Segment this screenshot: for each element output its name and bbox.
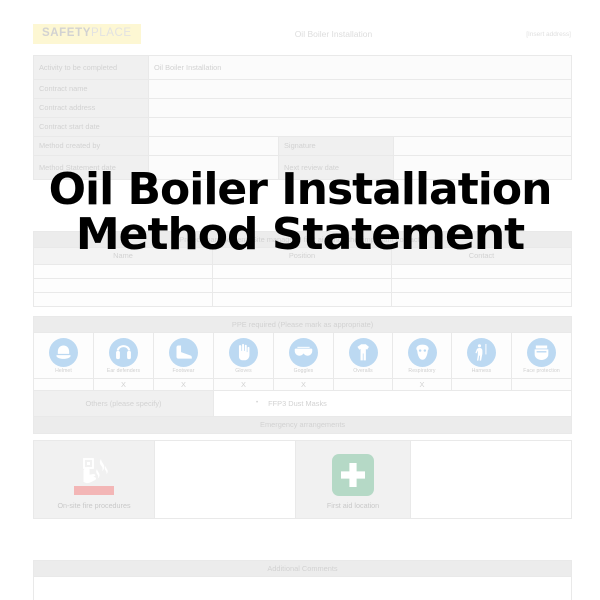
ppe-cell-harness[interactable]: Harness — [452, 333, 512, 379]
column-header-contact: Contact — [392, 248, 572, 264]
cell-name[interactable] — [34, 278, 213, 292]
fire-procedures-value[interactable] — [155, 441, 296, 519]
row-value-activity[interactable]: Oil Boiler Installation — [149, 56, 572, 80]
column-header-name: Name — [34, 248, 213, 264]
others-label: Others (please specify) — [34, 391, 214, 417]
ppe-label-gloves: Gloves — [214, 368, 273, 374]
first-aid-label: First aid location — [296, 501, 410, 510]
ear-defenders-icon — [109, 338, 138, 367]
fire-alarm-icon — [74, 486, 114, 495]
cell-contact[interactable] — [392, 292, 572, 306]
section-header-row: Project management (Site managers, first… — [34, 232, 572, 248]
fire-procedures-cell: On-site fire procedures — [34, 441, 155, 519]
document-page: SAFETYPLACE Oil Boiler Installation [Ins… — [0, 0, 600, 600]
others-value: FFP3 Dust Masks — [268, 399, 327, 408]
others-row: Others (please specify) •FFP3 Dust Masks — [34, 391, 572, 417]
document-header: SAFETYPLACE Oil Boiler Installation [Ins… — [33, 21, 571, 47]
header-address: [Insert address] — [526, 31, 571, 38]
ppe-cell-ear-defenders[interactable]: Ear defenders — [94, 333, 154, 379]
ppe-label-overalls: Overalls — [334, 368, 392, 374]
logo-text-bold: SAFETY — [42, 27, 91, 39]
goggles-icon — [289, 338, 318, 367]
table-row — [34, 278, 572, 292]
ppe-table: PPE required (Please mark as appropriate… — [33, 316, 572, 434]
table-row: Activity to be completed Oil Boiler Inst… — [34, 56, 572, 80]
ppe-label-face-protection: Face protection — [512, 368, 571, 374]
row-value-signature[interactable] — [394, 137, 572, 156]
first-aid-value[interactable] — [411, 441, 572, 519]
table-row — [34, 264, 572, 278]
row-value-contract-start-date[interactable] — [149, 118, 572, 137]
table-row: Contract address — [34, 99, 572, 118]
additional-comments-value[interactable] — [34, 577, 572, 600]
section-header-row: Emergency arrangements — [34, 417, 572, 433]
table-row — [34, 292, 572, 306]
ppe-cell-respiratory[interactable]: Respiratory — [393, 333, 452, 379]
table-row: Method Statement date Next review date — [34, 156, 572, 180]
activity-info-table: Activity to be completed Oil Boiler Inst… — [33, 55, 572, 180]
additional-comments-title: Additional Comments — [34, 561, 572, 577]
cell-position[interactable] — [213, 264, 392, 278]
row-label-signature: Signature — [279, 137, 394, 156]
ppe-cell-face-protection[interactable]: Face protection — [512, 333, 572, 379]
respiratory-icon — [408, 338, 437, 367]
footwear-icon — [169, 338, 198, 367]
ppe-mark-goggles[interactable]: X — [274, 379, 334, 391]
ppe-section-title: PPE required (Please mark as appropriate… — [34, 317, 572, 333]
harness-icon — [467, 338, 496, 367]
row-value-contract-name[interactable] — [149, 80, 572, 99]
ppe-mark-footwear[interactable]: X — [154, 379, 214, 391]
table-row: Contract start date — [34, 118, 572, 137]
ppe-label-respiratory: Respiratory — [393, 368, 451, 374]
table-row: Contract name — [34, 80, 572, 99]
cell-contact[interactable] — [392, 264, 572, 278]
table-row — [34, 577, 572, 600]
cell-contact[interactable] — [392, 278, 572, 292]
project-management-section-title: Project management (Site managers, first… — [34, 232, 572, 248]
ppe-label-harness: Harness — [452, 368, 511, 374]
ppe-cell-footwear[interactable]: Footwear — [154, 333, 214, 379]
gloves-icon — [229, 338, 258, 367]
row-label-contract-name: Contract name — [34, 80, 149, 99]
row-label-activity: Activity to be completed — [34, 56, 149, 80]
row-value-method-created-by[interactable] — [149, 137, 279, 156]
safety-place-logo: SAFETYPLACE — [33, 24, 141, 45]
additional-comments-table: Additional Comments — [33, 560, 572, 600]
face-protection-icon — [527, 338, 556, 367]
row-label-contract-address: Contract address — [34, 99, 149, 118]
column-header-row: Name Position Contact — [34, 248, 572, 264]
cell-position[interactable] — [213, 278, 392, 292]
ppe-mark-helmet[interactable] — [34, 379, 94, 391]
cell-name[interactable] — [34, 292, 213, 306]
ppe-mark-ear-defenders[interactable]: X — [94, 379, 154, 391]
section-header-row: Additional Comments — [34, 561, 572, 577]
row-label-method-statement-date: Method Statement date — [34, 156, 149, 180]
ppe-cell-overalls[interactable]: Overalls — [334, 333, 393, 379]
ppe-mark-harness[interactable] — [452, 379, 512, 391]
row-value-method-statement-date[interactable] — [149, 156, 279, 180]
ppe-cell-goggles[interactable]: Goggles — [274, 333, 334, 379]
ppe-mark-gloves[interactable]: X — [214, 379, 274, 391]
project-management-table: Project management (Site managers, first… — [33, 231, 572, 307]
logo-text-light: PLACE — [91, 27, 132, 39]
emergency-section-title: Emergency arrangements — [34, 417, 572, 433]
row-label-method-created-by: Method created by — [34, 137, 149, 156]
ppe-mark-overalls[interactable] — [334, 379, 393, 391]
first-aid-cell: First aid location — [296, 441, 411, 519]
row-label-next-review-date: Next review date — [279, 156, 394, 180]
others-value-cell[interactable]: •FFP3 Dust Masks — [214, 391, 572, 417]
section-header-row: PPE required (Please mark as appropriate… — [34, 317, 572, 333]
ppe-mark-respiratory[interactable]: X — [393, 379, 452, 391]
ppe-label-footwear: Footwear — [154, 368, 213, 374]
table-row: On-site fire procedures First aid locati… — [34, 441, 572, 519]
first-aid-icon — [332, 454, 374, 496]
column-header-position: Position — [213, 248, 392, 264]
ppe-cell-helmet[interactable]: Helmet — [34, 333, 94, 379]
ppe-label-ear-defenders: Ear defenders — [94, 368, 153, 374]
cell-name[interactable] — [34, 264, 213, 278]
row-value-contract-address[interactable] — [149, 99, 572, 118]
cell-position[interactable] — [213, 292, 392, 306]
ppe-cell-gloves[interactable]: Gloves — [214, 333, 274, 379]
overalls-icon — [349, 338, 378, 367]
header-title: Oil Boiler Installation — [141, 29, 527, 39]
row-value-next-review-date[interactable] — [394, 156, 572, 180]
ppe-label-helmet: Helmet — [34, 368, 93, 374]
ppe-mark-face-protection[interactable] — [512, 379, 572, 391]
row-label-contract-start-date: Contract start date — [34, 118, 149, 137]
bullet-icon: • — [256, 400, 258, 406]
table-row: Method created by Signature — [34, 137, 572, 156]
helmet-icon — [49, 338, 78, 367]
ppe-label-goggles: Goggles — [274, 368, 333, 374]
emergency-arrangements-table: On-site fire procedures First aid locati… — [33, 440, 572, 519]
fire-procedures-label: On-site fire procedures — [34, 501, 154, 510]
ppe-icon-row: Helmet Ear defenders Footwear — [34, 333, 572, 379]
ppe-mark-row: X X X X X — [34, 379, 572, 391]
